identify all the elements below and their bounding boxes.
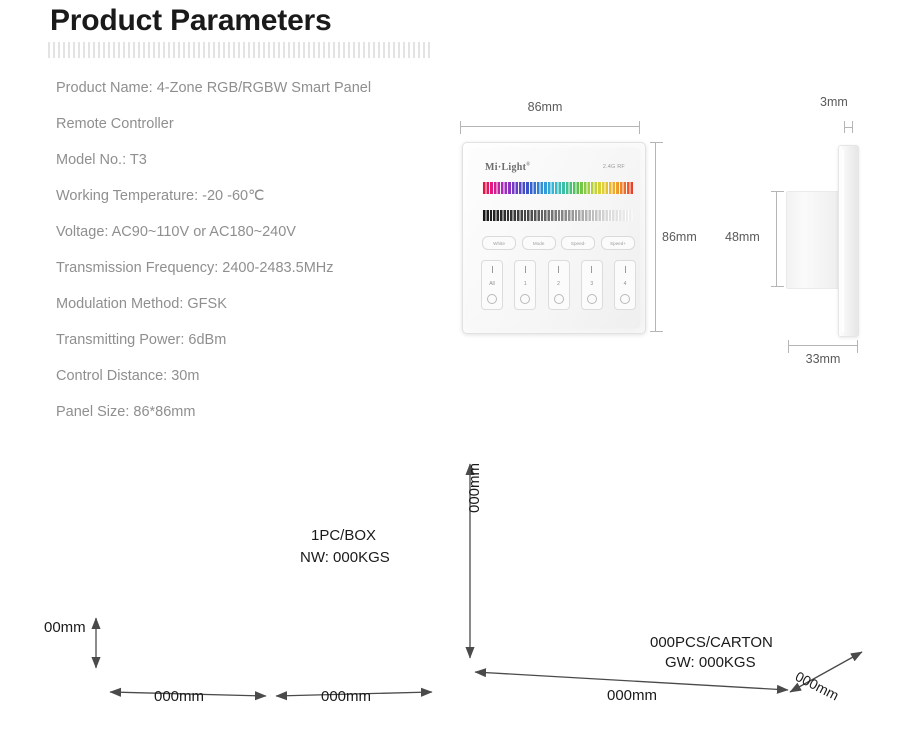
depth-dimension-label: 33mm: [788, 352, 858, 366]
thickness-dimension-bracket: [844, 121, 853, 133]
carton-quantity-label: 000PCS/CARTON: [650, 634, 773, 651]
panel-face: Mi·Light® 2.4G RF White Mode Speed- Spee…: [468, 148, 640, 328]
front-width-dimension-label: 86mm: [450, 100, 640, 114]
depth-dimension-line: [788, 345, 858, 346]
zone-label: 1: [524, 281, 527, 287]
spec-item: Panel Size: 86*86mm: [56, 394, 456, 430]
brightness-slider-strip[interactable]: [482, 210, 634, 221]
front-height-dimension-line: [655, 142, 656, 332]
zone-button-2[interactable]: 2: [548, 260, 570, 310]
white-button[interactable]: White: [482, 236, 516, 250]
carton-height-dimension-label: 000mm: [466, 463, 483, 513]
color-slider-strip[interactable]: [482, 182, 634, 194]
zone-label: All: [489, 281, 495, 287]
power-bar-icon: [591, 266, 592, 273]
side-view-diagram: 3mm 48mm 33mm: [720, 95, 900, 385]
zone-button-all[interactable]: All: [481, 260, 503, 310]
carton-gross-weight-label: GW: 000KGS: [665, 654, 756, 671]
specifications-list: Product Name: 4-Zone RGB/RGBW Smart Pane…: [56, 70, 456, 430]
power-bar-icon: [625, 266, 626, 273]
backbox-height-dimension-line: [776, 191, 777, 287]
zone-button-1[interactable]: 1: [514, 260, 536, 310]
mi-light-logo: Mi·Light®: [485, 162, 530, 173]
spec-item: Remote Controller: [56, 106, 456, 142]
title-tick-rule-divider: [48, 42, 432, 58]
smart-panel-product-image: Mi·Light® 2.4G RF White Mode Speed- Spee…: [462, 142, 646, 334]
zone-button-3[interactable]: 3: [581, 260, 603, 310]
spec-item: Voltage: AC90~110V or AC180~240V: [56, 214, 456, 250]
mode-button[interactable]: Mode: [522, 236, 556, 250]
function-button-row: White Mode Speed- Speed+: [482, 236, 635, 250]
rf-label: 2.4G RF: [603, 164, 625, 170]
power-bar-icon: [558, 266, 559, 273]
page-title: Product Parameters: [50, 2, 332, 40]
spec-item: Product Name: 4-Zone RGB/RGBW Smart Pane…: [56, 70, 456, 106]
registered-mark: ®: [526, 163, 530, 168]
zone-button-4[interactable]: 4: [614, 260, 636, 310]
power-bar-icon: [492, 266, 493, 273]
backbox-height-dimension-label: 48mm: [725, 230, 760, 244]
speed-down-button[interactable]: Speed-: [561, 236, 595, 250]
spec-item: Transmitting Power: 6dBm: [56, 322, 456, 358]
zone-label: 4: [624, 281, 627, 287]
carton-width-dimension-label: 000mm: [607, 687, 657, 704]
front-width-dimension-line: [460, 126, 640, 127]
spec-item: Working Temperature: -20 -60℃: [56, 178, 456, 214]
product-parameters-page: Product Parameters Product Name: 4-Zone …: [0, 0, 900, 739]
power-circle-icon: [587, 294, 597, 304]
front-height-dimension-label: 86mm: [662, 230, 697, 244]
power-circle-icon: [554, 294, 564, 304]
panel-faceplate-image: [838, 145, 859, 337]
power-circle-icon: [487, 294, 497, 304]
zone-button-row: All 1 2 3: [481, 260, 636, 310]
power-bar-icon: [525, 266, 526, 273]
power-circle-icon: [620, 294, 630, 304]
panel-backbox-image: [786, 191, 844, 289]
box-net-weight-label: NW: 000KGS: [300, 549, 390, 566]
spec-item: Modulation Method: GFSK: [56, 286, 456, 322]
box-quantity-label: 1PC/BOX: [311, 527, 376, 544]
front-view-diagram: 86mm Mi·Light® 2.4G RF White Mode Speed-…: [450, 100, 680, 365]
power-circle-icon: [520, 294, 530, 304]
spec-item: Control Distance: 30m: [56, 358, 456, 394]
brand-text: Mi·Light: [485, 162, 526, 173]
thickness-dimension-label: 3mm: [820, 95, 848, 109]
box-width-dimension-label: 000mm: [154, 688, 204, 705]
box-depth-dimension-label: 000mm: [321, 688, 371, 705]
packaging-dimension-arrows: [0, 440, 900, 739]
spec-item: Transmission Frequency: 2400-2483.5MHz: [56, 250, 456, 286]
zone-label: 3: [590, 281, 593, 287]
box-height-dimension-label: 00mm: [44, 619, 86, 636]
speed-up-button[interactable]: Speed+: [601, 236, 635, 250]
spec-item: Model No.: T3: [56, 142, 456, 178]
zone-label: 2: [557, 281, 560, 287]
